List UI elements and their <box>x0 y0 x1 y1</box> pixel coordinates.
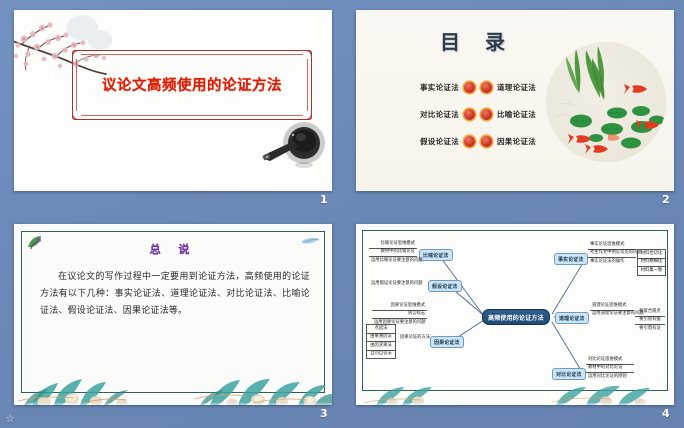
mindmap-sub-item: 运用比喻论证要注意的问题 <box>369 257 417 265</box>
floral-border-bottom <box>14 363 332 405</box>
mindmap-center-node[interactable]: 高频使用的论证方法 <box>482 309 550 325</box>
mindmap-leafgroup-yinguo: 点因法 由果溯因法 由因求果法 自问自答法 <box>366 324 396 359</box>
toc-bullet-icon <box>481 82 492 93</box>
mindmap-leaf-item: 点因法 <box>367 325 395 334</box>
slide-1-title: 议论文高频使用的论证方法 <box>73 74 311 95</box>
toc-item-5[interactable]: 假设论证法 <box>374 136 475 147</box>
slide-3-title: 总 说 <box>14 241 332 257</box>
mindmap-subgroup-daoli: 道理论证思维模式 运用道理论证要注意的问题 <box>590 302 634 318</box>
toc-item-label: 对比论证法 <box>420 109 459 120</box>
mindmap-sub-item: 因果论证的方法 <box>398 334 428 342</box>
toc-bullet-icon <box>464 109 475 120</box>
mindmap-subgroup-jiashe: 运用假设论证要注意的问题 <box>369 280 424 288</box>
slide-thumbnail-2[interactable]: 目 录 事实论证法 道理论证法 对比论证法 比喻论证法 假设论证法 <box>356 10 674 191</box>
toc-item-label: 比喻论证法 <box>497 109 536 120</box>
toc-item-3[interactable]: 对比论证法 <box>374 109 475 120</box>
frame-corner-top-right <box>303 50 312 59</box>
mindmap-branch-biyu[interactable]: 比喻论证法 <box>419 249 453 261</box>
slide-thumbnail-1[interactable]: 议论文高频使用的论证方法 <box>14 10 332 191</box>
toc-item-label: 假设论证法 <box>420 136 459 147</box>
mindmap-leaf-item: 材料集一致 <box>638 267 665 275</box>
mindmap-branch-yinguo[interactable]: 因果论证法 <box>430 336 464 348</box>
mindmap-subgroup-shishi: 事实论证思维模式 考生作文中例证常见的问题 事实论证法的操作 <box>588 241 636 266</box>
inkstone-and-brush-icon <box>260 119 326 173</box>
mindmap-leaf-item: 材料恰切化 <box>638 250 665 259</box>
toc-item-label: 因果论证法 <box>497 136 536 147</box>
slide-number-2: 2 <box>662 193 670 206</box>
mindmap-leaf-item: 由果溯因法 <box>367 334 395 343</box>
mindmap-sub-item: 教材中的对比论证 <box>586 365 634 374</box>
slide-3-body-text: 在议论文的写作过程中一定要用到论证方法，高频使用的论证方法有以下几种：事实论证法… <box>40 269 310 320</box>
title-frame: 议论文高频使用的论证方法 <box>72 50 312 120</box>
mindmap-branch-shishi[interactable]: 事实论证法 <box>554 253 588 265</box>
slide-thumbnail-4[interactable]: 高频使用的论证方法 比喻论证法 比喻论证思维模式 教材中的比喻论证 运用比喻论证… <box>356 224 674 405</box>
mindmap-sub-item: 运用假设论证要注意的问题 <box>369 280 424 288</box>
slide-number-1: 1 <box>320 193 328 206</box>
mindmap-sub-item: 事实论证法的操作 <box>588 258 636 266</box>
mindmap-branch-jiashe[interactable]: 假设论证法 <box>428 280 462 292</box>
pond-scene-icon <box>546 42 666 162</box>
slide-thumbnail-grid: 议论文高频使用的论证方法 1 目 录 事实论证法 道理论证法 <box>0 0 684 428</box>
mindmap-sub-item: 语言标志 <box>372 311 427 320</box>
mindmap-sub-item: 道理论证思维模式 <box>590 302 634 311</box>
frame-corner-top-left <box>72 50 81 59</box>
mindmap-leaf-item: 由因求果法 <box>367 342 395 351</box>
favorite-star-icon[interactable]: ☆ <box>5 413 15 424</box>
mindmap-leaf-item: 要紧合观点 <box>635 308 665 317</box>
slide-thumbnail-3[interactable]: 总 说 在议论文的写作过程中一定要用到论证方法，高频使用的论证方法有以下几种：事… <box>14 224 332 405</box>
mindmap-sub-item: 因果论证思维模式 <box>372 302 427 311</box>
slide-number-4: 4 <box>662 407 670 420</box>
mindmap-leafgroup-daoli: 要紧合观点 要引而有据 要引而有证 <box>635 308 665 333</box>
mindmap-sub-item: 对比论证思维模式 <box>586 356 634 365</box>
toc-bullet-icon <box>464 82 475 93</box>
toc-bullet-icon <box>481 136 492 147</box>
mindmap-subgroup-biyu: 比喻论证思维模式 教材中的比喻论证 运用比喻论证要注意的问题 <box>369 240 417 265</box>
toc-bullet-icon <box>481 109 492 120</box>
floral-border-bottom <box>356 377 674 405</box>
toc-item-1[interactable]: 事实论证法 <box>374 82 475 93</box>
mindmap-sub-item: 考生作文中例证常见的问题 <box>588 250 636 259</box>
mindmap-leaf-item: 自问自答法 <box>367 351 395 359</box>
mindmap-sub-item: 比喻论证思维模式 <box>369 240 417 249</box>
slide-number-3: 3 <box>320 407 328 420</box>
mindmap-sub-item: 教材中的比喻论证 <box>369 249 417 258</box>
toc-item-label: 事实论证法 <box>420 82 459 93</box>
mindmap-leafgroup-shishi: 材料恰切化 材料精细化 材料集一致 <box>637 249 666 276</box>
toc-item-label: 道理论证法 <box>497 82 536 93</box>
lotus-pond-circle <box>546 42 666 162</box>
slide-2-title: 目 录 <box>402 26 552 55</box>
mindmap-leaf-item: 材料精细化 <box>638 259 665 268</box>
mindmap-sub-item: 事实论证思维模式 <box>588 241 636 250</box>
mindmap-leaf-item: 要引而有证 <box>635 325 665 333</box>
mindmap-leaf-item: 要引而有据 <box>635 317 665 326</box>
toc-bullet-icon <box>464 136 475 147</box>
mindmap-branch-daoli[interactable]: 道理论证法 <box>555 312 589 324</box>
frame-corner-bottom-left <box>72 111 81 120</box>
mindmap-subgroup-yinguo: 因果论证思维模式 语言标志 运用因果论证要注意的问题 <box>372 302 427 327</box>
mindmap-subgroup-yinguo-method: 因果论证的方法 <box>398 334 428 342</box>
mindmap-sub-item: 运用道理论证要注意的问题 <box>590 311 634 319</box>
